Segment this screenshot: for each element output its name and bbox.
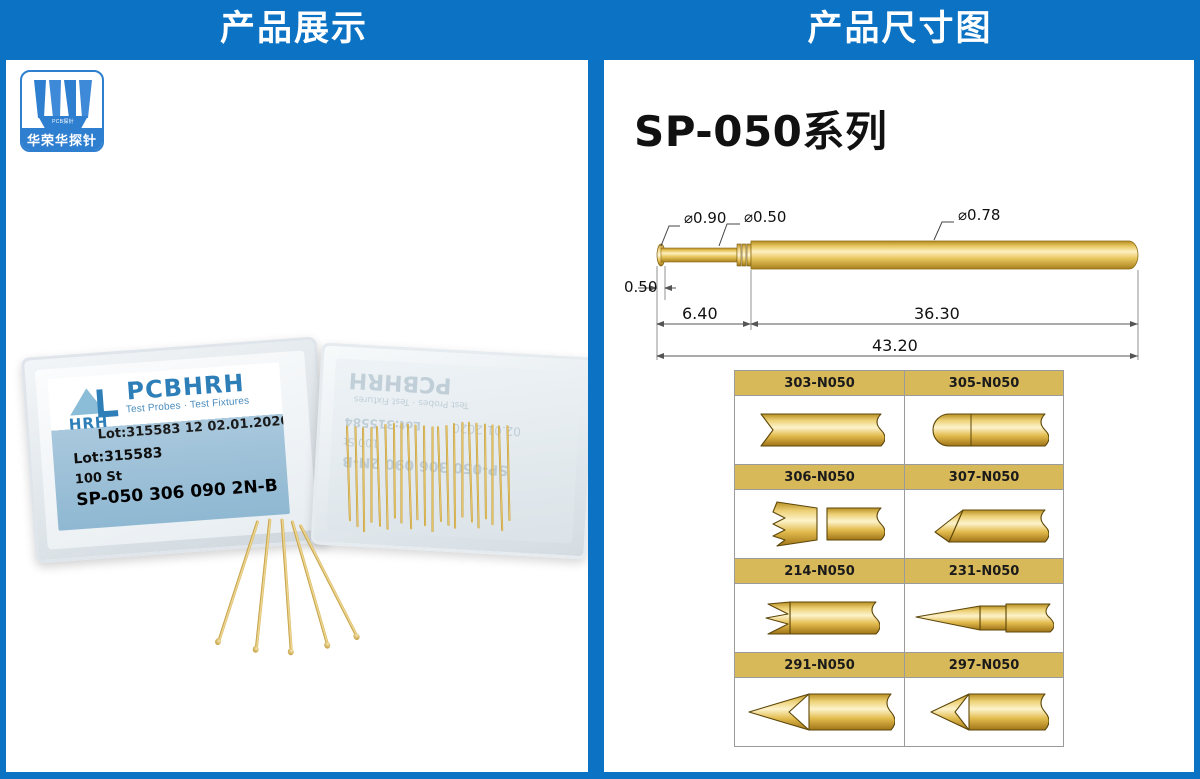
tip-code-297-N050: 297-N050 [905,653,1064,678]
dim-plunger-length-label: 6.40 [682,304,718,323]
tip-shape-chisel-notch [735,396,905,465]
right-panel-header: 产品尺寸图 [600,0,1200,58]
logo-band-text: 华荣华探针 [27,130,97,149]
logo-cup-text: PCB探针 [38,118,88,125]
dim-barrel-length-label: 36.30 [914,304,960,323]
label-quantity: 100 St [74,469,122,487]
tip-table-header-row: 303-N050305-N050 [735,371,1064,396]
tip-table-header-row: 291-N050297-N050 [735,653,1064,678]
dim-total-length-label: 43.20 [872,336,918,355]
tip-shape-long-spear [735,678,905,747]
series-title: SP-050系列 [634,98,887,159]
tip-table-shape-row [735,678,1064,747]
dim-tip-travel-label: 0.50 [624,278,657,296]
diameter-plunger-label: ⌀0.50 [744,208,786,226]
dimension-drawing-panel: SP-050系列 [604,60,1194,772]
left-header-title: 产品展示 [220,12,368,47]
tip-table-header-row: 214-N050231-N050 [735,559,1064,584]
tip-shape-crown-serrated [735,490,905,559]
tip-shape-double-fang [735,584,905,653]
tip-code-291-N050: 291-N050 [735,653,905,678]
tip-table-shape-row [735,584,1064,653]
tip-table-header-row: 306-N050307-N050 [735,465,1064,490]
tip-shape-short-spear [905,678,1064,747]
tip-code-303-N050: 303-N050 [735,371,905,396]
tip-code-307-N050: 307-N050 [905,465,1064,490]
product-photo-panel: PCBHRH Test Probes · Test Fixtures HRH L… [6,60,588,772]
tip-shape-round-dome [905,396,1064,465]
tip-code-305-N050: 305-N050 [905,371,1064,396]
logo-badge: PCB探针 华荣华探针 [20,70,104,152]
product-photo: PCBHRH Test Probes · Test Fixtures HRH L… [6,60,588,772]
tip-code-306-N050: 306-N050 [735,465,905,490]
right-header-title: 产品尺寸图 [807,12,992,47]
diameter-barrel-label: ⌀0.78 [958,206,1000,224]
tip-shape-needle-sharp [905,584,1064,653]
label-date-row: Lot:315583 12 02.01.2020 [97,414,290,443]
tip-code-231-N050: 231-N050 [905,559,1064,584]
tip-table-shape-row [735,396,1064,465]
diameter-tip-label: ⌀0.90 [684,209,726,227]
logo-name-band: 华荣华探针 [22,128,102,150]
ghost-subtitle: Test Probes · Test Fixtures [354,393,470,409]
tip-code-214-N050: 214-N050 [735,559,905,584]
product-label: PCBHRH Test Probes · Test Fixtures HRH L… [47,362,290,531]
tip-type-table: 303-N050305-N050 306-N050307-N050 [734,370,1064,747]
label-lot: Lot:315583 [73,445,163,467]
product-detail-page: 产品展示 产品尺寸图 PCBHRH Test Probes · Test Fix… [0,0,1200,779]
tip-table-shape-row [735,490,1064,559]
probe-dimension-drawing: ⌀0.90 ⌀0.50 ⌀0.78 0.50 6.40 36.30 43.20 [624,200,1180,390]
brand-logo: PCB探针 华荣华探针 [12,66,112,156]
loose-probes-fan [196,515,416,645]
crown-probes-icon [32,78,94,122]
left-panel-header: 产品展示 [0,0,588,58]
tip-shape-bevel-chamfer [905,490,1064,559]
